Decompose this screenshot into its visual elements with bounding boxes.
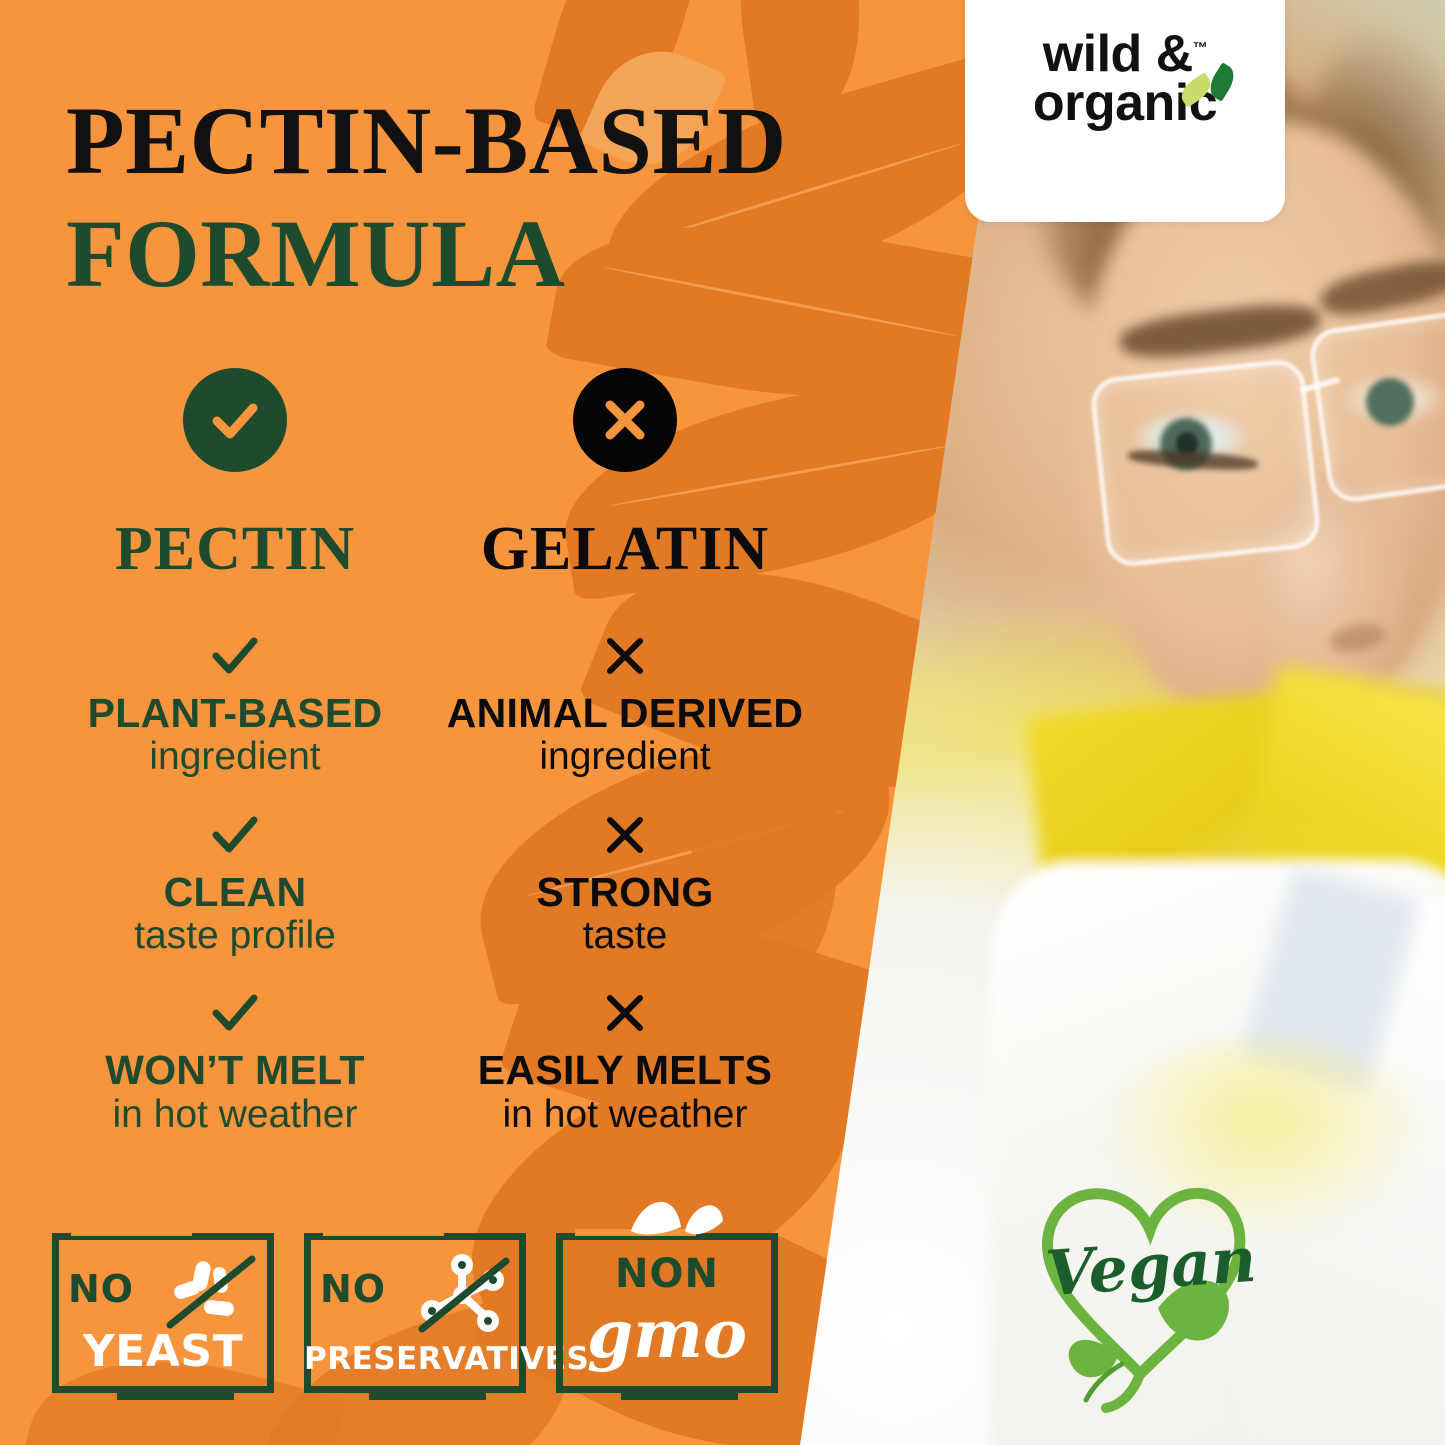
column-title-pectin: PECTIN bbox=[40, 514, 430, 585]
brand-logo-card[interactable]: wild &™ organic bbox=[965, 0, 1285, 222]
row-primary-text: STRONG bbox=[430, 870, 820, 914]
badge-main-text: YEAST bbox=[52, 1326, 274, 1377]
badge-no-preservatives[interactable]: NO PRES bbox=[304, 1233, 526, 1393]
safety-glasses-left-lens bbox=[1089, 357, 1323, 568]
check-circle-icon bbox=[183, 368, 287, 472]
infographic-canvas: wild &™ organic PECTIN-BASED FORMULA PEC… bbox=[0, 0, 1445, 1445]
logo-line-2: organic bbox=[965, 79, 1285, 128]
comparison-row: WON’T MELT in hot weather EASILY MELTS i… bbox=[40, 990, 820, 1137]
badge-prefix: NON bbox=[556, 1251, 778, 1297]
row-primary-text: WON’T MELT bbox=[40, 1048, 430, 1092]
row-cell-pectin: CLEAN taste profile bbox=[40, 812, 430, 959]
row-primary-text: EASILY MELTS bbox=[430, 1048, 820, 1092]
row-secondary-text: taste bbox=[430, 914, 820, 958]
badge-prefix: NO bbox=[320, 1267, 386, 1311]
row-primary-text: ANIMAL DERIVED bbox=[430, 691, 820, 735]
leaf-icon bbox=[623, 1187, 733, 1239]
cross-circle-icon bbox=[573, 368, 677, 472]
cross-icon bbox=[430, 633, 820, 679]
safety-glasses-right-lens bbox=[1307, 306, 1445, 506]
trademark-symbol: ™ bbox=[1193, 40, 1208, 57]
comparison-table: PECTIN GELATIN bbox=[40, 368, 820, 1169]
row-cell-pectin: PLANT-BASED ingredient bbox=[40, 633, 430, 780]
row-cell-gelatin: EASILY MELTS in hot weather bbox=[430, 990, 820, 1137]
check-icon bbox=[40, 812, 430, 858]
row-secondary-text: ingredient bbox=[430, 735, 820, 779]
badge-non-gmo[interactable]: NON gmo bbox=[556, 1233, 778, 1393]
badge-main-text: PRESERVATIVES bbox=[304, 1341, 526, 1377]
certification-badges: NO YEAST NO bbox=[52, 1233, 778, 1393]
row-primary-text: PLANT-BASED bbox=[40, 691, 430, 735]
row-secondary-text: in hot weather bbox=[40, 1093, 430, 1137]
row-cell-gelatin: ANIMAL DERIVED ingredient bbox=[430, 633, 820, 780]
column-title-gelatin: GELATIN bbox=[430, 514, 820, 585]
row-secondary-text: ingredient bbox=[40, 735, 430, 779]
row-secondary-text: in hot weather bbox=[430, 1093, 820, 1137]
check-icon bbox=[40, 633, 430, 679]
comparison-column-gelatin: GELATIN bbox=[430, 368, 820, 585]
comparison-column-pectin: PECTIN bbox=[40, 368, 430, 585]
comparison-row: PLANT-BASED ingredient ANIMAL DERIVED in… bbox=[40, 633, 820, 780]
row-cell-gelatin: STRONG taste bbox=[430, 812, 820, 959]
vegan-seal: Vegan bbox=[1000, 1168, 1300, 1418]
logo-line-1: wild &™ bbox=[965, 30, 1285, 79]
row-cell-pectin: WON’T MELT in hot weather bbox=[40, 990, 430, 1137]
comparison-rows: PLANT-BASED ingredient ANIMAL DERIVED in… bbox=[40, 633, 820, 1137]
cross-icon bbox=[430, 990, 820, 1036]
comparison-header-row: PECTIN GELATIN bbox=[40, 368, 820, 585]
no-preservatives-icon bbox=[416, 1249, 512, 1341]
cross-icon bbox=[430, 812, 820, 858]
badge-prefix: NO bbox=[68, 1267, 134, 1311]
badge-no-yeast[interactable]: NO YEAST bbox=[52, 1233, 274, 1393]
check-icon bbox=[40, 990, 430, 1036]
badge-main-text: gmo bbox=[556, 1295, 778, 1373]
comparison-row: CLEAN taste profile STRONG taste bbox=[40, 812, 820, 959]
headline-line-1: PECTIN-BASED bbox=[66, 84, 906, 197]
headline-line-2: FORMULA bbox=[66, 197, 906, 310]
page-title: PECTIN-BASED FORMULA bbox=[66, 84, 906, 311]
row-primary-text: CLEAN bbox=[40, 870, 430, 914]
row-secondary-text: taste profile bbox=[40, 914, 430, 958]
